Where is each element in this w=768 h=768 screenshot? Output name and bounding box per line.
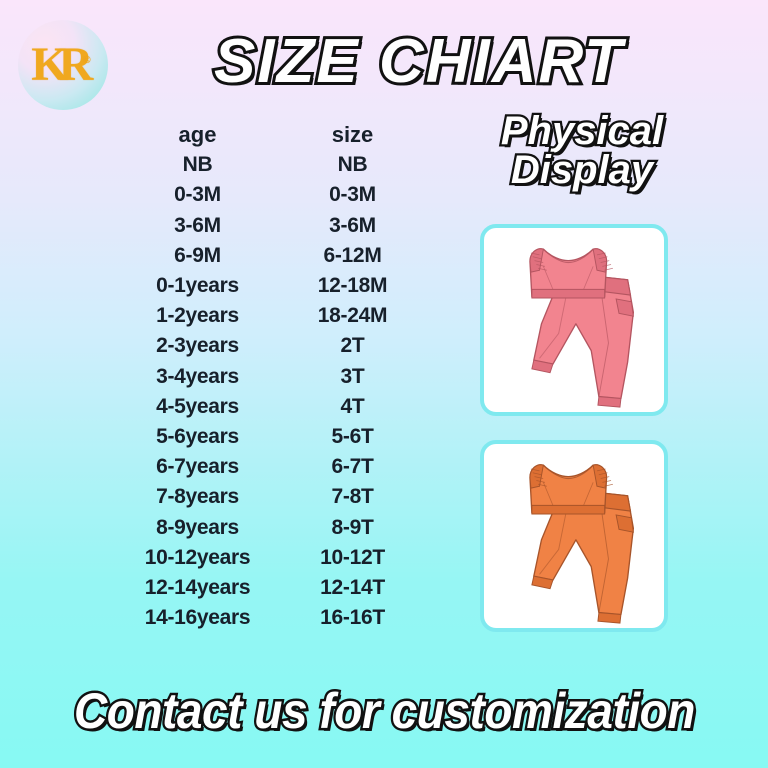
- orange-outfit-illustration: [484, 444, 664, 628]
- table-row: 7-8years7-8T: [120, 482, 430, 512]
- table-row: NBNB: [120, 150, 430, 180]
- table-row: 6-7years6-7T: [120, 452, 430, 482]
- leggings-side-pocket: [616, 515, 633, 532]
- cell-size: 3-6M: [275, 214, 430, 238]
- cell-age: 5-6years: [120, 425, 275, 449]
- cell-size: 12-14T: [275, 576, 430, 600]
- cell-age: 7-8years: [120, 485, 275, 509]
- cell-size: 8-9T: [275, 516, 430, 540]
- cell-size: 2T: [275, 334, 430, 358]
- cell-size: 12-18M: [275, 274, 430, 298]
- table-row: 14-16years16-16T: [120, 603, 430, 633]
- cell-size: 7-8T: [275, 485, 430, 509]
- cell-age: 6-7years: [120, 455, 275, 479]
- cell-size: 10-12T: [275, 546, 430, 570]
- cell-age: 0-3M: [120, 183, 275, 207]
- table-row: 8-9years8-9T: [120, 512, 430, 542]
- cell-size: 6-7T: [275, 455, 430, 479]
- physical-display-heading: Physical Display: [462, 112, 702, 190]
- cell-size: 6-12M: [275, 244, 430, 268]
- cell-age: 3-4years: [120, 365, 275, 389]
- physical-display-line-1: Physical: [462, 112, 702, 151]
- leggings-right-cuff: [598, 397, 621, 408]
- leggings-right-cuff: [598, 613, 621, 624]
- cell-size: NB: [275, 153, 430, 177]
- cell-age: 4-5years: [120, 395, 275, 419]
- cell-size: 3T: [275, 365, 430, 389]
- table-row: 2-3years2T: [120, 331, 430, 361]
- cell-size: 4T: [275, 395, 430, 419]
- cell-age: NB: [120, 153, 275, 177]
- cell-age: 12-14years: [120, 576, 275, 600]
- product-card-pink: [480, 224, 668, 416]
- cell-age: 1-2years: [120, 304, 275, 328]
- table-row: 3-6M3-6M: [120, 211, 430, 241]
- table-row: 3-4years3T: [120, 362, 430, 392]
- cell-age: 2-3years: [120, 334, 275, 358]
- column-header-age: age: [120, 122, 275, 148]
- table-body: NBNB0-3M0-3M3-6M3-6M6-9M6-12M0-1years12-…: [120, 150, 430, 633]
- cell-size: 0-3M: [275, 183, 430, 207]
- footer-cta: Contact us for customization: [0, 682, 768, 740]
- table-row: 12-14years12-14T: [120, 573, 430, 603]
- physical-display-line-2: Display: [462, 151, 702, 190]
- size-chart-table: age size NBNB0-3M0-3M3-6M3-6M6-9M6-12M0-…: [120, 120, 430, 633]
- page-title-text: SIZE CHIART: [214, 27, 624, 96]
- pink-outfit-illustration: [484, 228, 664, 412]
- table-row: 0-3M0-3M: [120, 180, 430, 210]
- cell-age: 6-9M: [120, 244, 275, 268]
- cell-size: 16-16T: [275, 606, 430, 630]
- page-title: SIZE CHIART: [35, 26, 768, 97]
- cell-age: 10-12years: [120, 546, 275, 570]
- table-row: 0-1years12-18M: [120, 271, 430, 301]
- cell-age: 14-16years: [120, 606, 275, 630]
- table-row: 4-5years4T: [120, 392, 430, 422]
- cell-age: 0-1years: [120, 274, 275, 298]
- footer-cta-text: Contact us for customization: [74, 682, 695, 740]
- cell-age: 3-6M: [120, 214, 275, 238]
- sports-bra-underband: [532, 289, 605, 298]
- cell-size: 18-24M: [275, 304, 430, 328]
- table-row: 6-9M6-12M: [120, 241, 430, 271]
- cell-size: 5-6T: [275, 425, 430, 449]
- cell-age: 8-9years: [120, 516, 275, 540]
- table-row: 5-6years5-6T: [120, 422, 430, 452]
- column-header-size: size: [275, 122, 430, 148]
- sports-bra-underband: [532, 505, 605, 514]
- table-row: 10-12years10-12T: [120, 543, 430, 573]
- leggings-side-pocket: [616, 299, 633, 316]
- table-row: 1-2years18-24M: [120, 301, 430, 331]
- table-header-row: age size: [120, 120, 430, 150]
- product-card-orange: [480, 440, 668, 632]
